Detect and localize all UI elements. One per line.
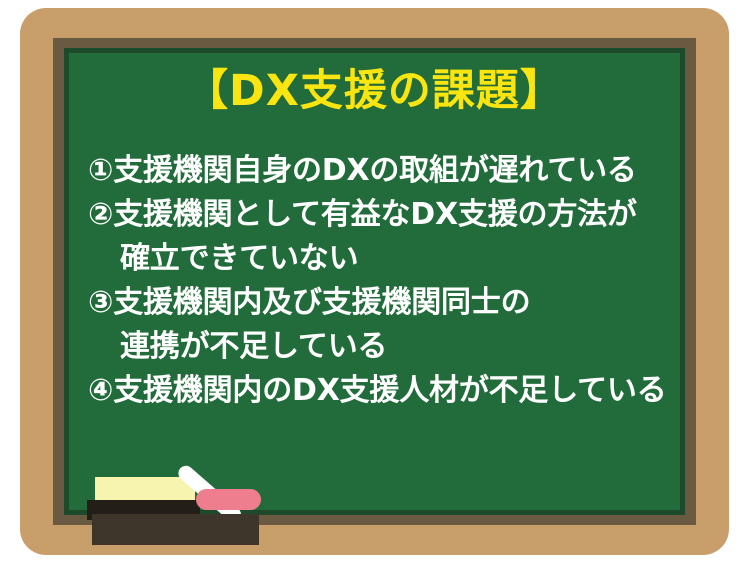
list-item: ②支援機関として有益なDX支援の方法が (88, 193, 668, 237)
list-item: ③支援機関内及び支援機関同士の (88, 281, 668, 325)
pink-chalk-icon (196, 489, 261, 510)
blackboard-surface: 【DX支援の課題】 ①支援機関自身のDXの取組が遅れている ②支援機関として有益… (69, 53, 680, 510)
list-item-continuation: 確立できていない (88, 237, 668, 281)
page-title: 【DX支援の課題】 (69, 68, 680, 115)
list-item-continuation: 連携が不足している (88, 325, 668, 369)
slide-canvas: 【DX支援の課題】 ①支援機関自身のDXの取組が遅れている ②支援機関として有益… (0, 0, 749, 563)
list-item: ①支援機関自身のDXの取組が遅れている (88, 149, 668, 193)
issue-list: ①支援機関自身のDXの取組が遅れている ②支援機関として有益なDX支援の方法が … (88, 149, 668, 413)
chalk-tray-ledge (92, 514, 259, 545)
list-item: ④支援機関内のDX支援人材が不足している (88, 369, 668, 413)
